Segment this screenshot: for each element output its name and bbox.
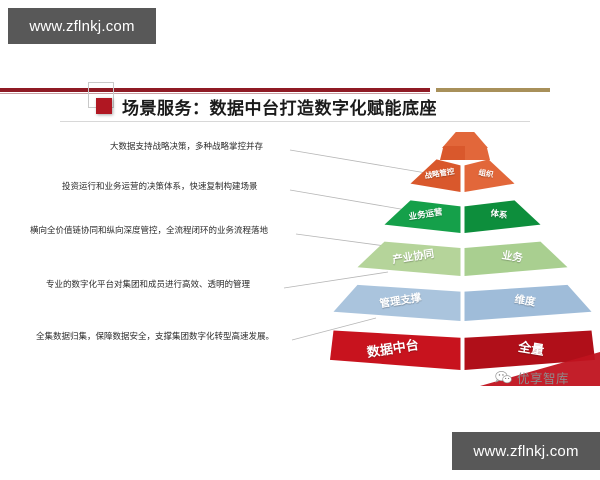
title-red-square-icon: [96, 98, 112, 114]
brand-logo: 优享智库: [495, 368, 569, 387]
pyramid-level-left-label: 管理支撑: [378, 289, 422, 310]
description-text: 横向全价值链协同和纵向深度管控，全流程闭环的业务流程落地: [30, 226, 268, 236]
pyramid-level-right-face[interactable]: 体系: [330, 195, 595, 233]
wechat-icon: [495, 370, 512, 385]
pyramid-level-left-label: 产业协同: [391, 245, 435, 266]
pyramid-level-left-face[interactable]: 战略管控: [330, 154, 595, 192]
pyramid-level-right-label: 业务: [501, 247, 524, 265]
pyramid-level-right-label: 维度: [513, 291, 536, 309]
title-underline: [60, 121, 530, 122]
description-item: 投资运行和业务运营的决策体系，快速复制构建场景: [62, 182, 258, 192]
pyramid-level[interactable]: 业务运营体系: [330, 195, 595, 233]
pyramid-level-left-label: 业务运营: [408, 205, 443, 222]
slide-canvas: www.zflnkj.com 场景服务：数据中台打造数字化赋能底座 大数据支持战…: [0, 0, 600, 480]
watermark-bottom: www.zflnkj.com: [452, 432, 600, 470]
description-item: 专业的数字化平台对集团和成员进行高效、透明的管理: [46, 280, 250, 290]
brand-name: 优享智库: [517, 368, 569, 387]
description-item: 大数据支持战略决策，多种战略掌控并存: [110, 142, 263, 152]
description-item: 横向全价值链协同和纵向深度管控，全流程闭环的业务流程落地: [30, 226, 268, 236]
description-text: 全集数据归集，保障数据安全，支撑集团数字化转型高速发展。: [36, 332, 274, 342]
description-list: 大数据支持战略决策，多种战略掌控并存 投资运行和业务运营的决策体系，快速复制构建…: [0, 130, 360, 370]
pyramid-level[interactable]: 产业协同业务: [330, 236, 595, 276]
pyramid-diagram: 战略管控组织业务运营体系产业协同业务管理支撑维度数据中台全量: [330, 132, 595, 372]
pyramid-level[interactable]: 战略管控组织: [330, 154, 595, 192]
pyramid-level-right-label: 体系: [490, 207, 509, 222]
description-text: 投资运行和业务运营的决策体系，快速复制构建场景: [62, 182, 258, 192]
description-item: 全集数据归集，保障数据安全，支撑集团数字化转型高速发展。: [36, 332, 274, 342]
watermark-top: www.zflnkj.com: [8, 8, 156, 44]
title-rule-red: [0, 88, 430, 92]
slide-title-band: 场景服务：数据中台打造数字化赋能底座: [0, 88, 600, 126]
description-text: 专业的数字化平台对集团和成员进行高效、透明的管理: [46, 280, 250, 290]
title-rule-gold: [436, 88, 550, 92]
page-title: 场景服务：数据中台打造数字化赋能底座: [122, 94, 437, 119]
apex-top-face: [442, 132, 488, 148]
pyramid-level-left-label: 战略管控: [423, 165, 454, 181]
pyramid-level[interactable]: 数据中台全量: [330, 324, 595, 370]
pyramid-level-right-label: 组织: [478, 166, 495, 179]
pyramid-level[interactable]: 管理支撑维度: [330, 279, 595, 321]
description-text: 大数据支持战略决策，多种战略掌控并存: [110, 142, 263, 152]
pyramid-level-left-face[interactable]: 业务运营: [330, 195, 595, 233]
pyramid-level-right-face[interactable]: 组织: [330, 154, 595, 192]
pyramid-level-right-label: 全量: [518, 336, 547, 359]
pyramid-level-left-label: 数据中台: [366, 334, 420, 361]
